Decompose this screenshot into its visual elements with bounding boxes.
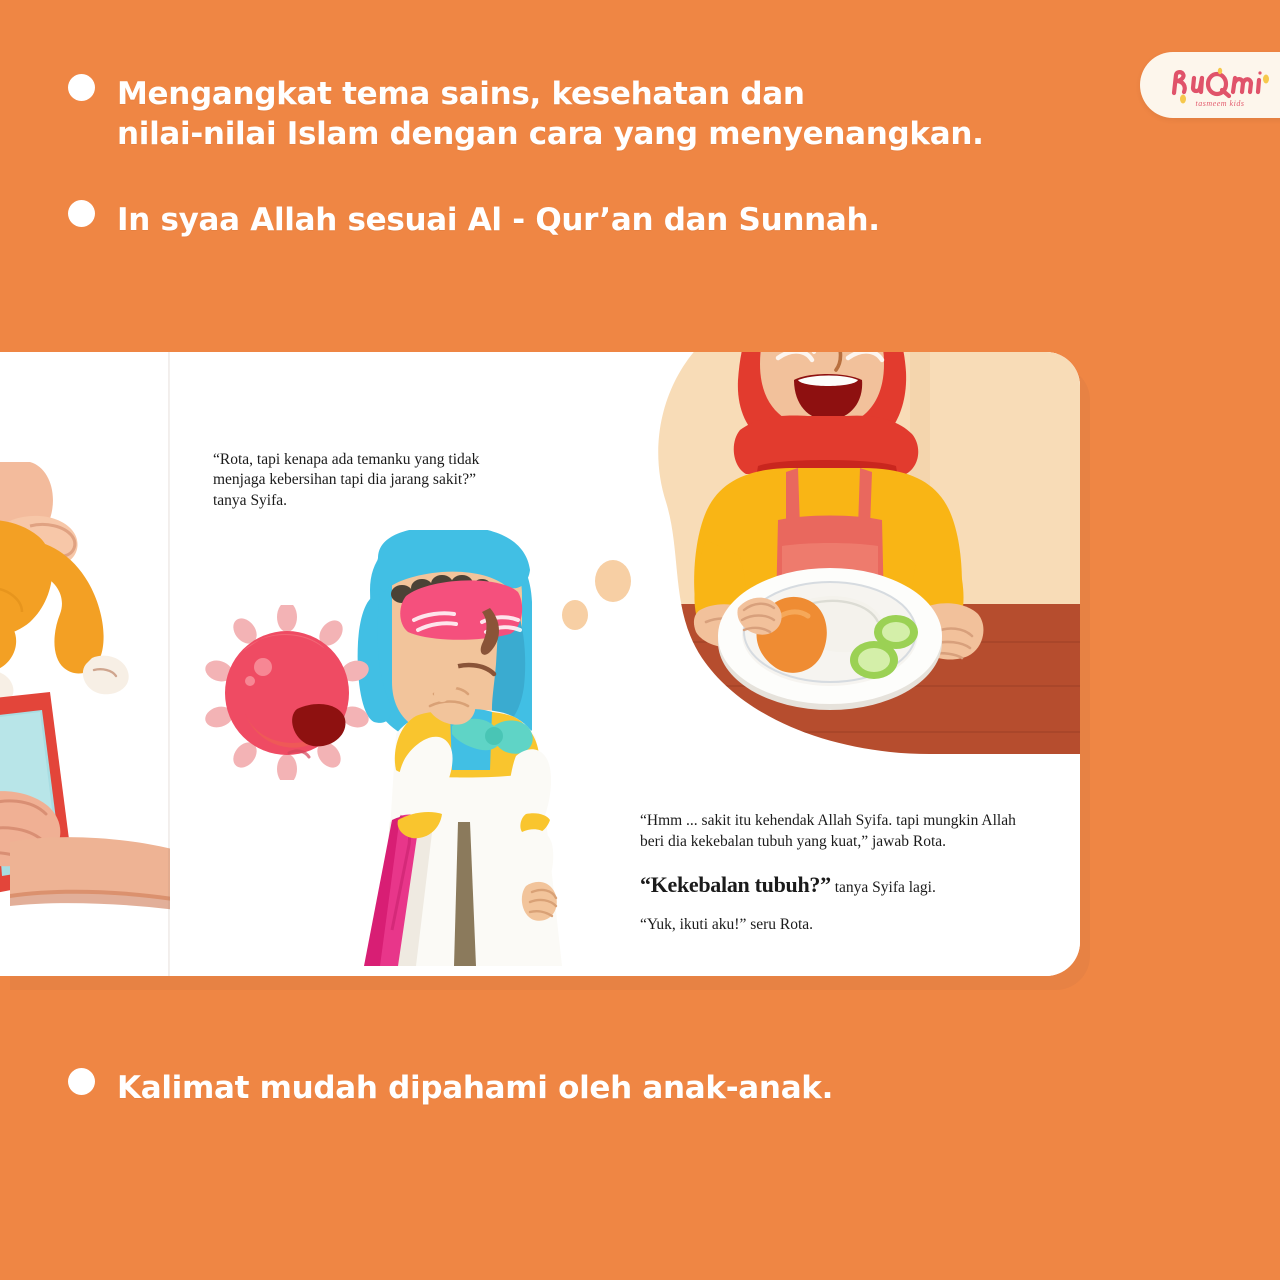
kekebalan-rest: tanya Syifa lagi. <box>831 879 936 896</box>
bullet-dot-icon <box>68 200 95 227</box>
virus-character-icon <box>205 605 370 780</box>
bullet-item-1: Mengangkat tema sains, kesehatan dan nil… <box>68 74 984 155</box>
book-right-page: “Rota, tapi kenapa ada temanku yang tida… <box>180 352 1080 976</box>
thought-bubble-dot-large <box>595 560 631 602</box>
story-text-syifa-question: “Rota, tapi kenapa ada temanku yang tida… <box>213 450 513 511</box>
bullet-text-3: Kalimat mudah dipahami oleh anak-anak. <box>117 1068 833 1108</box>
book-gutter <box>168 352 170 976</box>
bullet-text-1: Mengangkat tema sains, kesehatan dan nil… <box>117 74 984 155</box>
poster-canvas: tasmeem kids Mengangkat tema sains, kese… <box>0 0 1280 1280</box>
story-text-rota-answer: “Hmm ... sakit itu kehendak Allah Syifa.… <box>640 810 1020 853</box>
hand-holding-tablet-icon <box>0 682 170 932</box>
story-text-kekebalan-question: “Kekebalan tubuh?” tanya Syifa lagi. <box>640 872 1020 898</box>
open-book-photo: “Rota, tapi kenapa ada temanku yang tida… <box>0 352 1080 976</box>
thought-bubble-illustration <box>610 352 1080 762</box>
bullet-item-3: Kalimat mudah dipahami oleh anak-anak. <box>68 1068 833 1108</box>
bullet-dot-icon <box>68 1068 95 1095</box>
thought-bubble-scene <box>610 352 1080 762</box>
bullet-dot-icon <box>68 74 95 101</box>
bullet-text-2: In syaa Allah sesuai Al - Qur’an dan Sun… <box>117 200 880 240</box>
bullet-item-2: In syaa Allah sesuai Al - Qur’an dan Sun… <box>68 200 880 240</box>
book-left-page <box>0 352 170 976</box>
kekebalan-emphasis: “Kekebalan tubuh?” <box>640 872 831 897</box>
story-text-rota-invite: “Yuk, ikuti aku!” seru Rota. <box>640 916 1020 934</box>
rumi-script-logo-icon <box>1160 63 1280 107</box>
brand-logo: tasmeem kids <box>1140 52 1280 118</box>
